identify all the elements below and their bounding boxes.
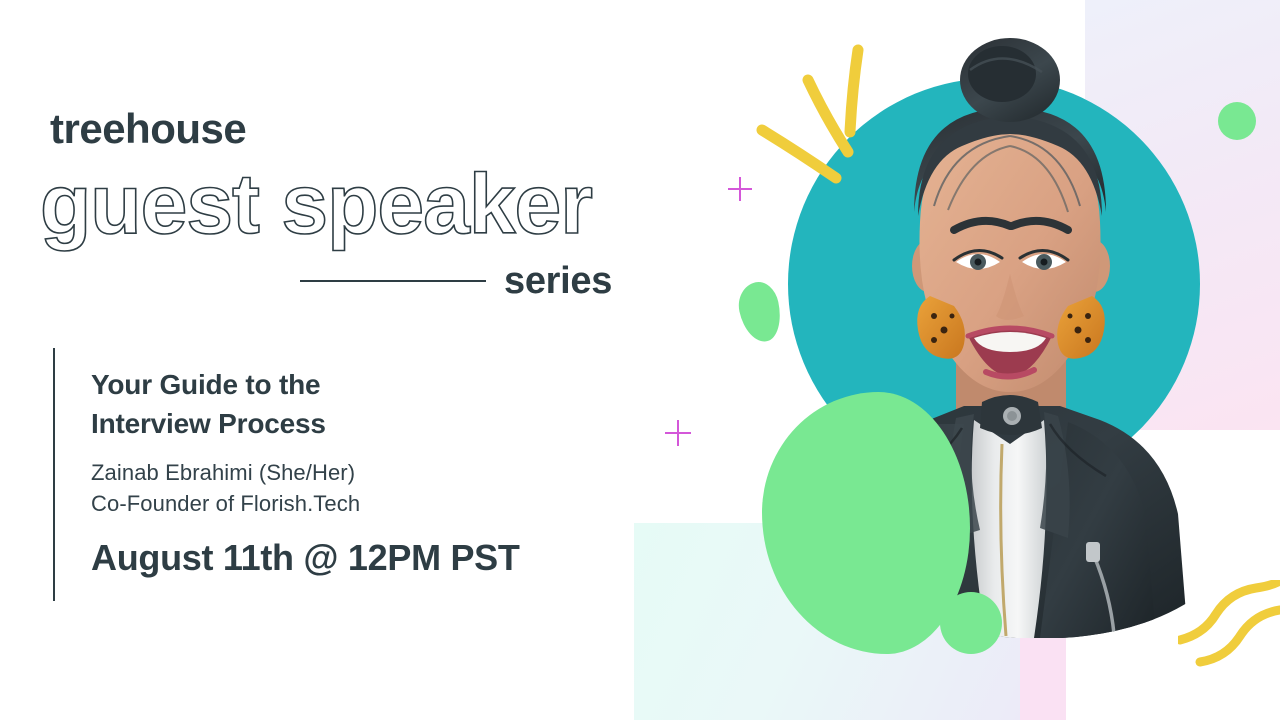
series-row: series	[300, 258, 625, 304]
brand-name: treehouse	[50, 108, 246, 150]
background-panel-bottom-right	[1020, 624, 1066, 720]
series-word: series	[504, 262, 612, 300]
wavy-lines-icon	[1178, 580, 1280, 680]
plus-mark-icon-lower	[665, 420, 691, 446]
guest-speaker-promo-slide: treehouse guest speaker series Your Guid…	[0, 0, 1280, 720]
plus-mark-icon-upper	[728, 177, 752, 201]
event-datetime: August 11th @ 12PM PST	[91, 540, 611, 576]
headline-outline-text: guest speaker	[40, 162, 592, 246]
green-blob-small	[734, 278, 786, 345]
speaker-role: Co-Founder of Florish.Tech	[91, 488, 611, 519]
series-divider-rule	[300, 280, 486, 282]
green-circle-top-right	[1218, 102, 1256, 140]
speaker-name: Zainab Ebrahimi (She/Her)	[91, 457, 611, 488]
talk-title: Your Guide to the Interview Process	[91, 366, 611, 443]
event-detail-block: Your Guide to the Interview Process Zain…	[91, 366, 611, 576]
vertical-accent-rule	[53, 348, 55, 601]
green-circle-bottom	[940, 592, 1002, 654]
sparkle-lines-icon	[748, 38, 888, 198]
